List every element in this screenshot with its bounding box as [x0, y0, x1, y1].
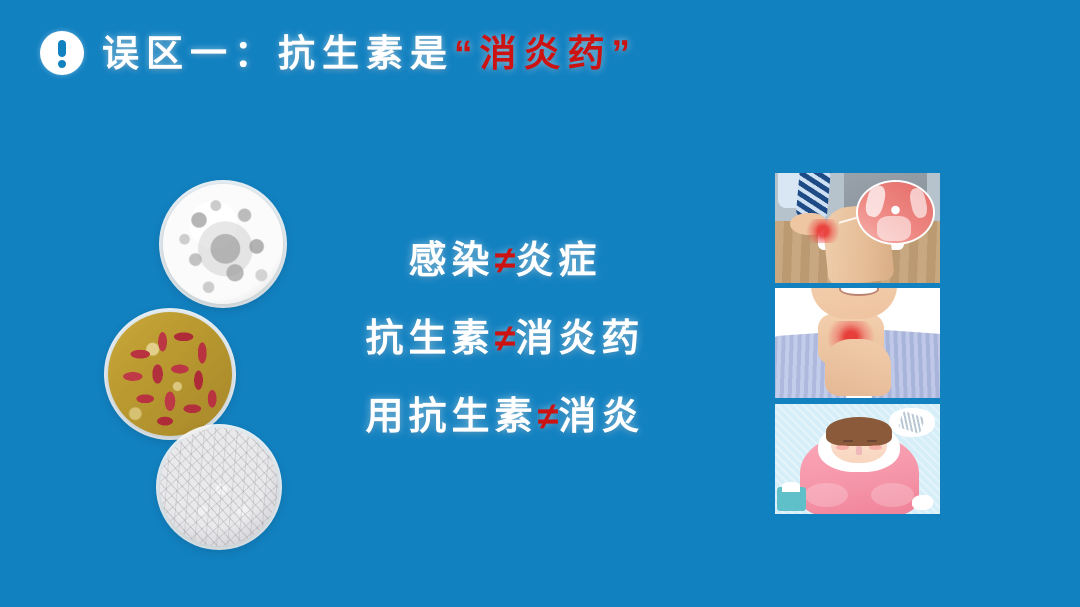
- slogan-line: 抗生素≠消炎药: [310, 300, 700, 378]
- slogan-block: 感染≠炎症 抗生素≠消炎药 用抗生素≠消炎: [310, 222, 700, 456]
- cold-illustration-eye-left: [843, 440, 853, 442]
- fungus-micrograph: [160, 428, 278, 546]
- not-equal-icon: ≠: [495, 240, 516, 282]
- cold-illustration-hair: [826, 417, 892, 446]
- joint-bone-lower: [877, 216, 910, 241]
- knee-photo-inflammation-glow: [803, 219, 843, 243]
- slogan-line: 感染≠炎症: [310, 222, 700, 300]
- cold-illustration-nose: [856, 446, 863, 455]
- virus-micrograph: [163, 184, 283, 304]
- fungus-micrograph-image: [160, 428, 278, 546]
- slogan-line-right: 炎症: [515, 240, 601, 282]
- not-equal-icon: ≠: [495, 318, 516, 360]
- slogan-line-right: 消炎: [558, 396, 644, 438]
- exclamation-circle-icon: [40, 31, 84, 75]
- page-title-highlight: “消炎药”: [454, 33, 637, 74]
- bacteria-micrograph-image: [108, 312, 232, 436]
- cold-illustration-eye-right: [867, 440, 877, 442]
- slogan-line-left: 抗生素: [366, 318, 495, 360]
- page-title: 误区一：抗生素是“消炎药”: [102, 35, 637, 72]
- slogan-line-left: 感染: [409, 240, 495, 282]
- slogan-line: 用抗生素≠消炎: [310, 378, 700, 456]
- page-title-prefix: 误区一：抗生素是: [102, 33, 454, 74]
- cold-illustration-tissue-sheet: [782, 482, 800, 492]
- not-equal-icon: ≠: [538, 396, 559, 438]
- knee-pain-photo-image: [775, 173, 940, 283]
- sore-throat-photo: [775, 288, 940, 398]
- slide-title-row: 误区一：抗生素是“消炎药”: [40, 18, 637, 88]
- throat-photo-hand: [825, 339, 891, 396]
- exclamation-stem: [58, 40, 66, 57]
- slogan-line-left: 用抗生素: [366, 396, 538, 438]
- knee-photo-necktie: [796, 173, 832, 218]
- virus-micrograph-image: [163, 184, 283, 304]
- cold-illustration-blanket-fold-right: [871, 483, 914, 507]
- knee-pain-photo: [775, 173, 940, 283]
- bacteria-micrograph: [108, 312, 232, 436]
- exclamation-dot: [58, 60, 66, 68]
- common-cold-illustration: [775, 404, 940, 514]
- sore-throat-photo-image: [775, 288, 940, 398]
- cold-illustration-used-tissue: [912, 495, 933, 509]
- slogan-line-right: 消炎药: [515, 318, 644, 360]
- cold-illustration-blanket-fold-left: [805, 483, 848, 507]
- slide-canvas: 误区一：抗生素是“消炎药” 感染≠炎症 抗生素≠消炎药 用抗生素≠消炎: [0, 0, 1080, 607]
- common-cold-illustration-image: [775, 404, 940, 514]
